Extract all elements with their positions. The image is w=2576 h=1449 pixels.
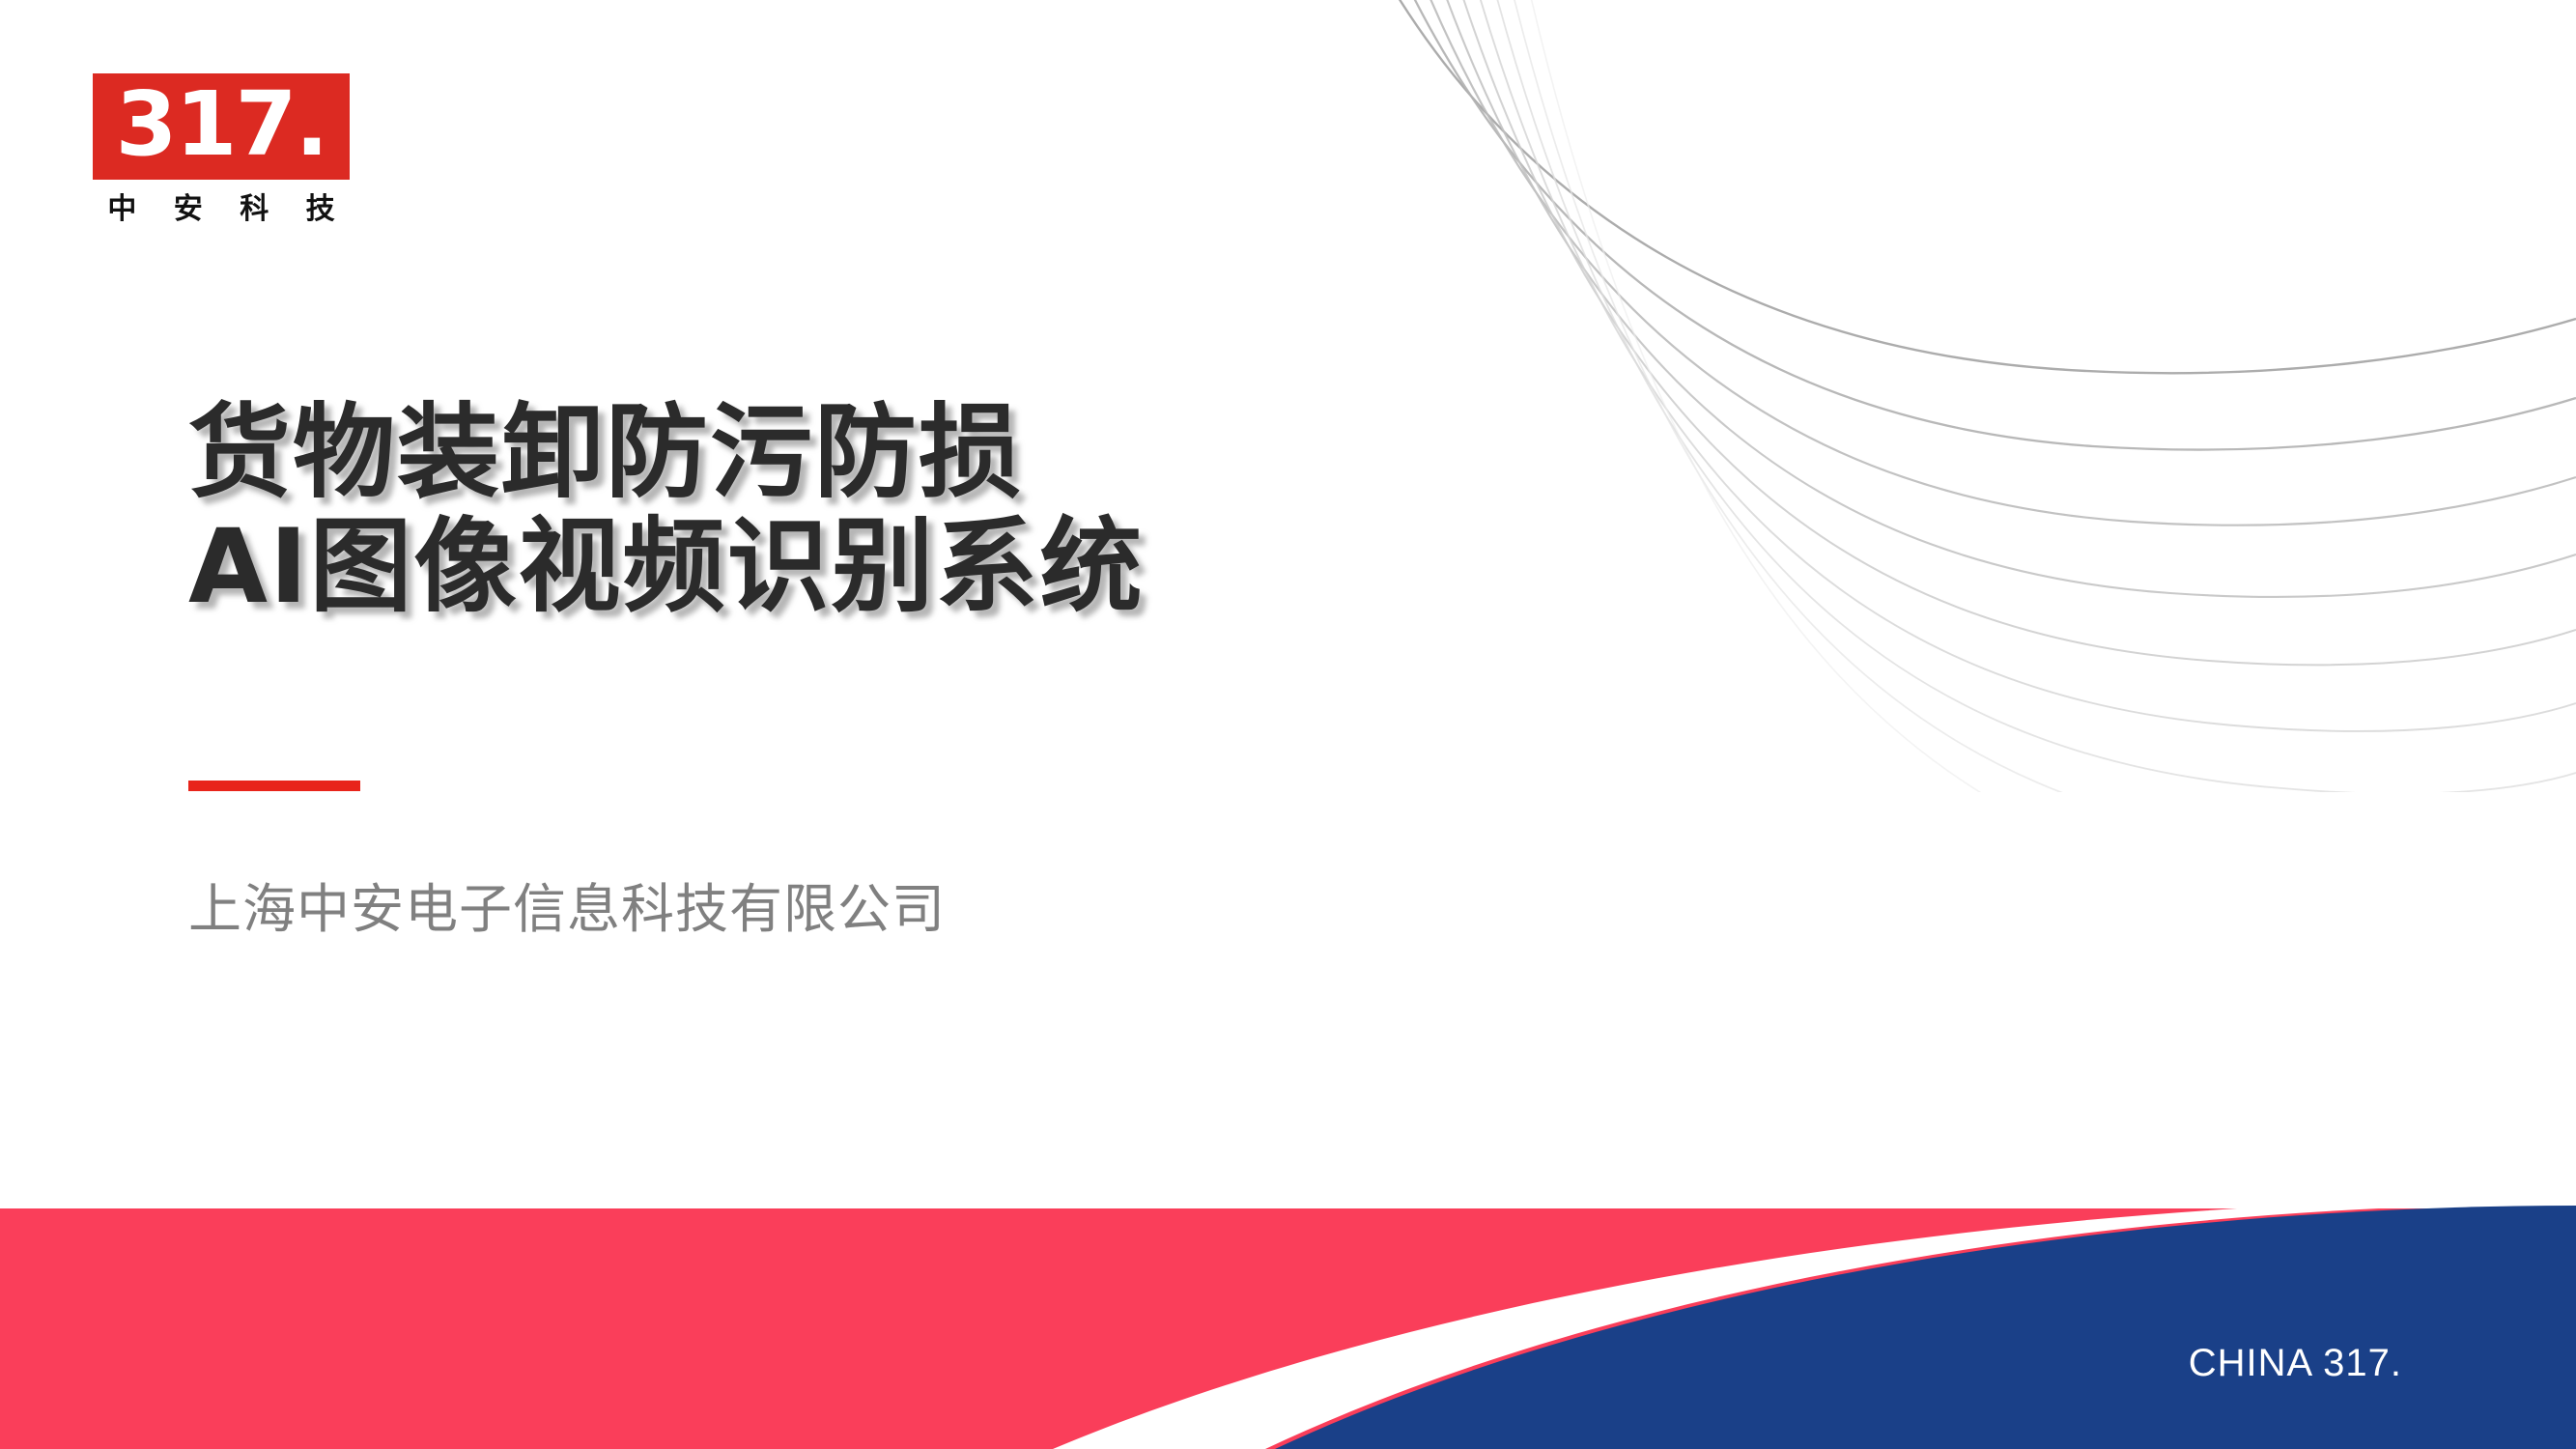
- company-name-subtitle: 上海中安电子信息科技有限公司: [188, 877, 946, 941]
- brand-logo: 317. 中 安 科 技: [93, 73, 354, 226]
- footer-brand-label: CHINA 317.: [2189, 1341, 2402, 1385]
- footer-banner: CHINA 317.: [0, 1196, 2576, 1449]
- title-divider-rule: [188, 781, 360, 791]
- title-slide: 317. 中 安 科 技 货物装卸防污防损 AI图像视频识别系统 上海中安电子信…: [0, 0, 2576, 1449]
- page-title: 货物装卸防污防损 AI图像视频识别系统: [188, 396, 1144, 624]
- page-title-line-1: 货物装卸防污防损: [188, 396, 1144, 510]
- page-title-line-2: AI图像视频识别系统: [188, 510, 1144, 624]
- logo-mark-text: 317.: [116, 80, 327, 173]
- logo-mark-317: 317.: [93, 73, 350, 180]
- footer-banner-shapes: [0, 1196, 2576, 1449]
- decorative-curve-fan: [1320, 0, 2576, 792]
- logo-company-short: 中 安 科 技: [93, 193, 350, 226]
